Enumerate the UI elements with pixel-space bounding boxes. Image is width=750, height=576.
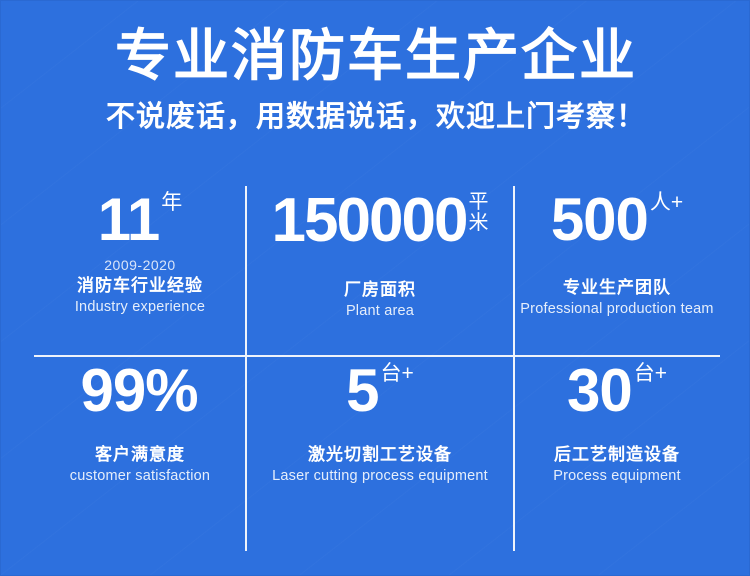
stat-value: 150000平米: [272, 190, 489, 252]
stats-rows: 11年 2009-2020 消防车行业经验 Industry experienc…: [34, 186, 720, 551]
stat-label-en: customer satisfaction: [34, 466, 246, 486]
grid-divider-horizontal: [34, 355, 720, 357]
stat-label-en: Laser cutting process equipment: [246, 466, 514, 486]
stat-unit: 台+: [379, 363, 414, 385]
stat-label-cn: 后工艺制造设备: [514, 443, 720, 466]
stat-cell-industry-experience: 11年 2009-2020 消防车行业经验 Industry experienc…: [34, 186, 246, 355]
stats-grid: 11年 2009-2020 消防车行业经验 Industry experienc…: [34, 186, 720, 551]
grid-divider-vertical-right: [513, 186, 515, 551]
stat-label-cn: 专业生产团队: [514, 276, 720, 299]
stat-cell-laser-cutting-equipment: 5台+ 激光切割工艺设备 Laser cutting process equip…: [246, 357, 514, 551]
stat-unit: 台+: [632, 363, 667, 385]
stat-number: 5: [346, 357, 378, 424]
stat-value: 30台+: [567, 361, 667, 421]
stat-value: 11年: [98, 190, 182, 250]
stat-label-cn: 消防车行业经验: [34, 274, 246, 297]
stat-unit: 年: [159, 192, 182, 214]
stat-cell-process-equipment: 30台+ 后工艺制造设备 Process equipment: [514, 357, 720, 551]
stat-unit-line-2: 米: [468, 213, 488, 234]
poster-header: 专业消防车生产企业 不说废话，用数据说话，欢迎上门考察！: [1, 1, 750, 137]
stat-label-en: Plant area: [246, 301, 514, 321]
page-subtitle: 不说废话，用数据说话，欢迎上门考察！: [1, 89, 750, 137]
stat-unit-line-1: 平: [468, 192, 488, 213]
stat-cell-plant-area: 150000平米 厂房面积 Plant area: [246, 186, 514, 355]
stat-year-range: 2009-2020: [34, 256, 246, 274]
stat-label-en: Professional production team: [514, 299, 720, 319]
stat-unit: 平米: [466, 192, 488, 234]
stat-number: 30: [567, 357, 632, 424]
stats-row-bottom: 99% 客户满意度 customer satisfaction 5台+ 激光切割…: [34, 357, 720, 551]
stat-number: 99%: [80, 357, 197, 424]
stat-label-en: Process equipment: [514, 466, 720, 486]
stat-number: 150000: [272, 186, 467, 255]
stat-value: 500人+: [551, 190, 683, 250]
stat-label-cn: 客户满意度: [34, 443, 246, 466]
stat-cell-production-team: 500人+ 专业生产团队 Professional production tea…: [514, 186, 720, 355]
stat-label-en: Industry experience: [34, 297, 246, 317]
stats-row-top: 11年 2009-2020 消防车行业经验 Industry experienc…: [34, 186, 720, 355]
stat-label-cn: 厂房面积: [246, 278, 514, 301]
stat-value: 99%: [80, 361, 199, 421]
promo-poster: 专业消防车生产企业 不说废话，用数据说话，欢迎上门考察！ 11年 2009-20…: [0, 0, 750, 576]
page-title: 专业消防车生产企业: [1, 1, 750, 89]
stat-unit: 人+: [648, 192, 683, 214]
stat-number: 500: [551, 186, 648, 253]
stat-cell-customer-satisfaction: 99% 客户满意度 customer satisfaction: [34, 357, 246, 551]
grid-divider-vertical-left: [245, 186, 247, 551]
stat-number: 11: [98, 186, 159, 253]
stat-label-cn: 激光切割工艺设备: [246, 443, 514, 466]
stat-value: 5台+: [346, 361, 414, 421]
